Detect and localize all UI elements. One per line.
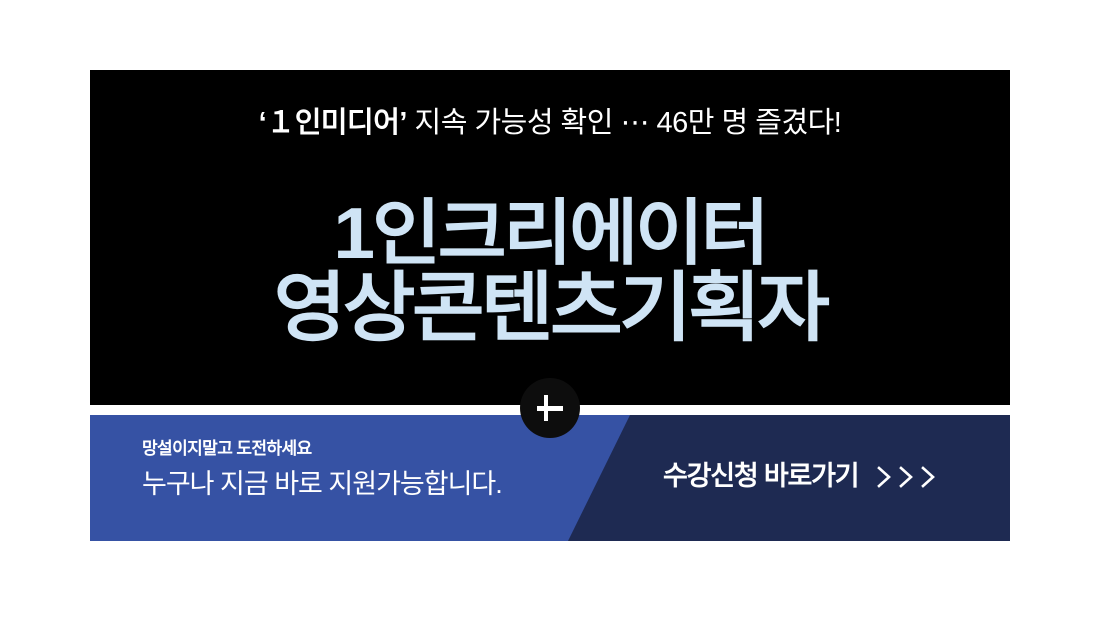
hero-panel: ‘１인미디어’ 지속 가능성 확인 ⋯ 46만 명 즐겼다! 1인크리에이터 영… xyxy=(90,70,1010,405)
apply-now-button[interactable]: 수강신청 바로가기 xyxy=(663,459,939,493)
cta-main-text: 누구나 지금 바로 지원가능합니다. xyxy=(142,467,502,501)
plus-icon xyxy=(537,406,563,411)
promo-banner[interactable]: ‘１인미디어’ 지속 가능성 확인 ⋯ 46만 명 즐겼다! 1인크리에이터 영… xyxy=(90,70,1010,541)
eyebrow-rest-text: 지속 가능성 확인 ⋯ 46만 명 즐겼다! xyxy=(407,107,841,139)
headline-line-2: 영상콘텐츠기획자 xyxy=(90,270,1010,348)
chevron-right-icon xyxy=(875,464,895,490)
apply-now-label: 수강신청 바로가기 xyxy=(663,459,858,493)
cta-bar-message: 망설이지말고 도전하세요 누구나 지금 바로 지원가능합니다. xyxy=(142,437,502,501)
chevron-right-icon xyxy=(919,464,939,490)
cta-arrows xyxy=(875,464,939,490)
cta-kicker-text: 망설이지말고 도전하세요 xyxy=(142,437,502,461)
chevron-right-icon xyxy=(897,464,917,490)
eyebrow-text: ‘１인미디어’ 지속 가능성 확인 ⋯ 46만 명 즐겼다! xyxy=(90,104,1010,142)
headline-line-1: 1인크리에이터 xyxy=(90,195,1010,273)
eyebrow-quoted-term: ‘１인미디어’ xyxy=(259,107,407,139)
plus-badge xyxy=(520,378,580,438)
plus-icon-vertical xyxy=(544,395,549,421)
